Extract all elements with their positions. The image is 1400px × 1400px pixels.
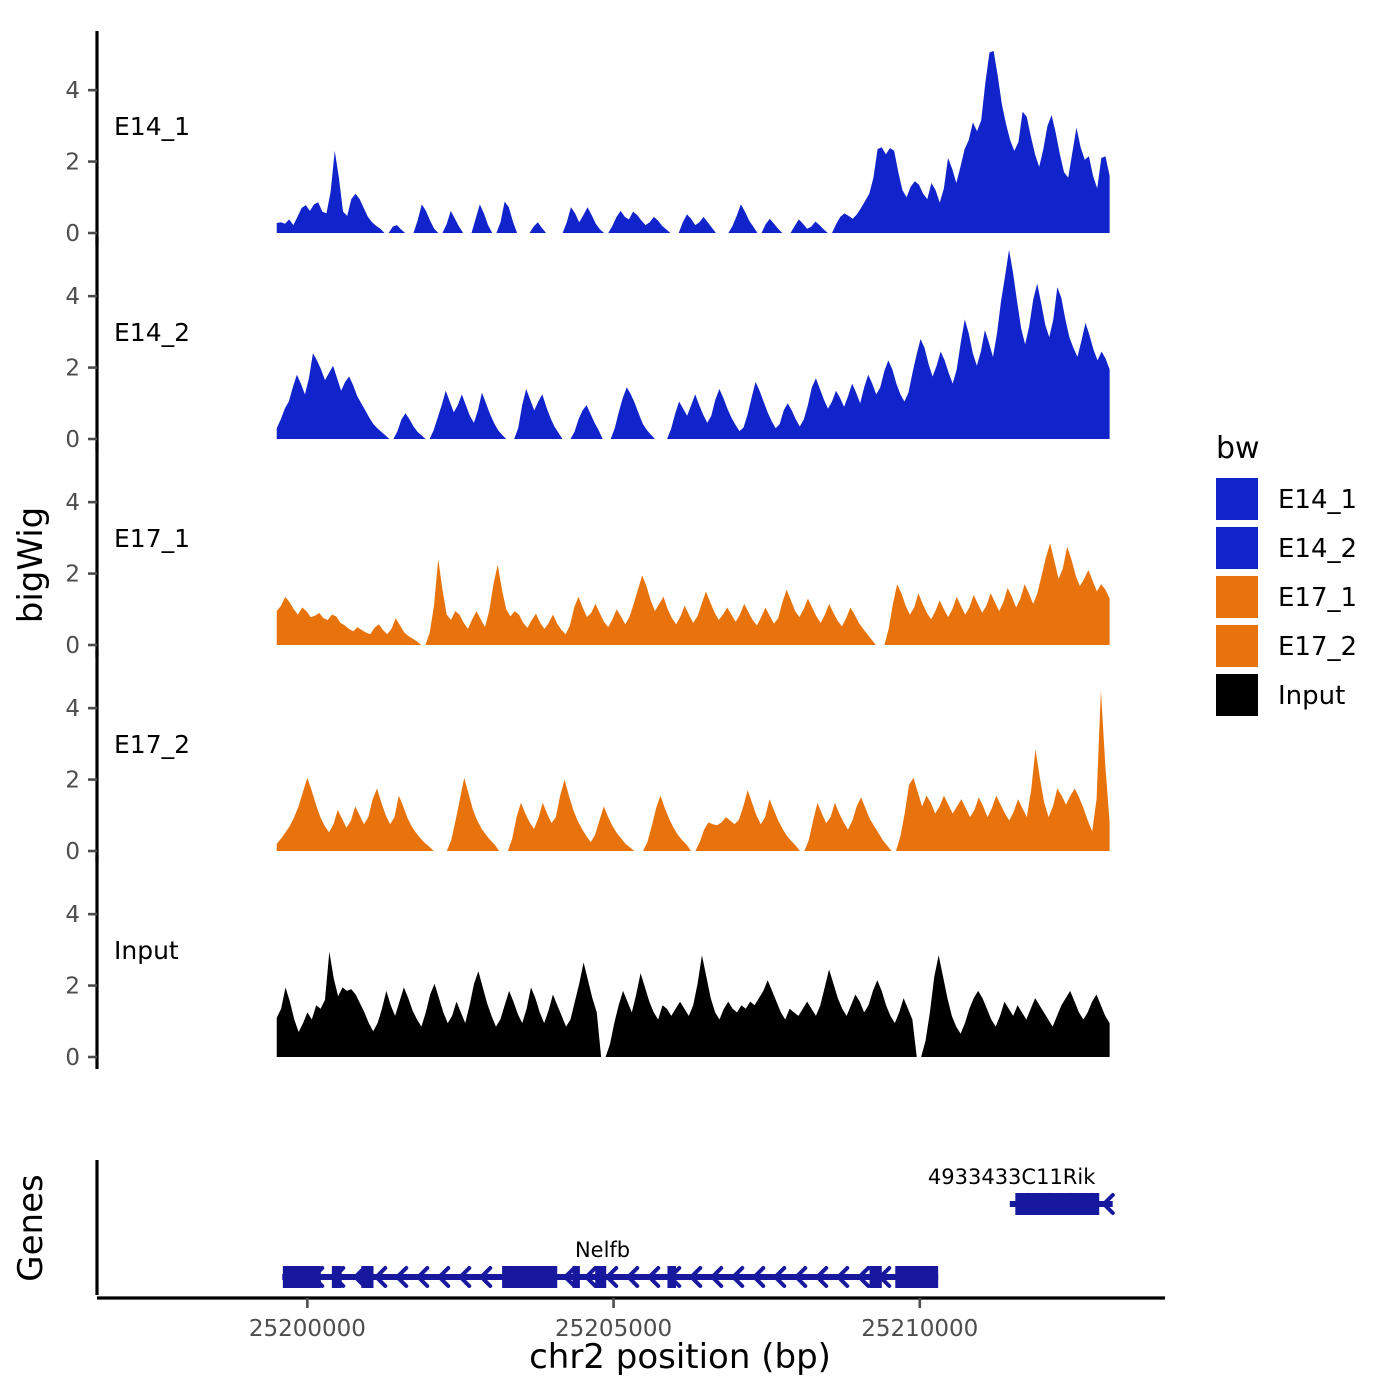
track-panel-e14_2: 024E14_2: [65, 237, 1109, 453]
gene-exon: [595, 1266, 606, 1288]
y-tick-label: 0: [65, 221, 80, 247]
legend-swatch: [1216, 527, 1258, 569]
legend-item-e17_1[interactable]: E17_1: [1216, 576, 1357, 618]
gene-exon: [573, 1266, 580, 1288]
legend-label: E17_1: [1278, 583, 1357, 613]
gene-exon: [283, 1266, 321, 1288]
gene-exon: [667, 1266, 676, 1288]
gene-nelfb[interactable]: Nelfb: [282, 1238, 938, 1288]
track-label: E14_2: [114, 318, 190, 347]
y-tick-label: 4: [65, 902, 80, 928]
x-tick-label: 25210000: [861, 1316, 978, 1342]
gene-label: 4933433C11Rik: [928, 1165, 1096, 1189]
y-tick-label: 4: [65, 284, 80, 310]
legend-label: E14_2: [1278, 534, 1357, 564]
track-label: E14_1: [114, 112, 190, 141]
figure-svg: bigWig Genes chr2 position (bp) 024E14_1…: [0, 0, 1400, 1400]
y-tick-label: 0: [65, 427, 80, 453]
genes-axis-title: Genes: [11, 1174, 51, 1281]
y-tick-label: 2: [65, 562, 80, 588]
gene-exon: [895, 1266, 938, 1288]
legend-swatch: [1216, 625, 1258, 667]
gene-exon: [870, 1266, 882, 1288]
legend-item-input[interactable]: Input: [1216, 674, 1345, 716]
x-tick-label: 25200000: [249, 1316, 366, 1342]
legend-item-e17_2[interactable]: E17_2: [1216, 625, 1357, 667]
x-axis-title: chr2 position (bp): [529, 1337, 831, 1377]
y-tick-label: 4: [65, 696, 80, 722]
legend-item-e14_2[interactable]: E14_2: [1216, 527, 1357, 569]
genome-browser-figure: bigWig Genes chr2 position (bp) 024E14_1…: [0, 0, 1400, 1400]
coverage-area-e17_2: [277, 690, 1110, 851]
legend-label: E14_1: [1278, 485, 1357, 515]
coverage-area-e14_2: [277, 250, 1110, 439]
gene-exon: [332, 1266, 342, 1288]
y-axis-title: bigWig: [11, 507, 51, 624]
track-panel-e17_1: 024E17_1: [65, 443, 1109, 659]
legend-title: bw: [1216, 431, 1260, 466]
coverage-area-e17_1: [277, 543, 1110, 645]
y-tick-label: 0: [65, 633, 80, 659]
y-tick-label: 0: [65, 839, 80, 865]
track-panel-e17_2: 024E17_2: [65, 649, 1109, 865]
track-label: E17_1: [114, 524, 190, 553]
gene-exon: [1015, 1193, 1099, 1215]
legend-swatch: [1216, 576, 1258, 618]
gene-label: Nelfb: [575, 1238, 630, 1262]
legend: bwE14_1E14_2E17_1E17_2Input: [1216, 431, 1357, 716]
coverage-area-e14_1: [277, 51, 1110, 233]
y-tick-label: 2: [65, 150, 80, 176]
y-tick-label: 2: [65, 974, 80, 1000]
legend-label: E17_2: [1278, 632, 1357, 662]
track-label: E17_2: [114, 730, 190, 759]
legend-label: Input: [1278, 681, 1345, 711]
y-tick-label: 2: [65, 768, 80, 794]
track-label: Input: [114, 936, 179, 965]
gene-exon: [361, 1266, 373, 1288]
gene-exon: [502, 1266, 557, 1288]
coverage-area-input: [277, 952, 1110, 1057]
x-axis: 252000002520500025210000: [97, 1298, 1165, 1342]
track-panels: 024E14_1024E14_2024E17_1024E17_2024Input: [65, 31, 1109, 1071]
legend-swatch: [1216, 674, 1258, 716]
y-tick-label: 4: [65, 78, 80, 104]
y-tick-label: 2: [65, 356, 80, 382]
genes-panel: 4933433C11RikNelfb: [97, 1160, 1113, 1295]
legend-swatch: [1216, 478, 1258, 520]
y-tick-label: 4: [65, 490, 80, 516]
x-tick-label: 25205000: [555, 1316, 672, 1342]
track-panel-e14_1: 024E14_1: [65, 31, 1109, 247]
y-tick-label: 0: [65, 1045, 80, 1071]
track-panel-input: 024Input: [65, 855, 1109, 1071]
gene-4933433c11rik[interactable]: 4933433C11Rik: [928, 1165, 1113, 1215]
legend-item-e14_1[interactable]: E14_1: [1216, 478, 1357, 520]
